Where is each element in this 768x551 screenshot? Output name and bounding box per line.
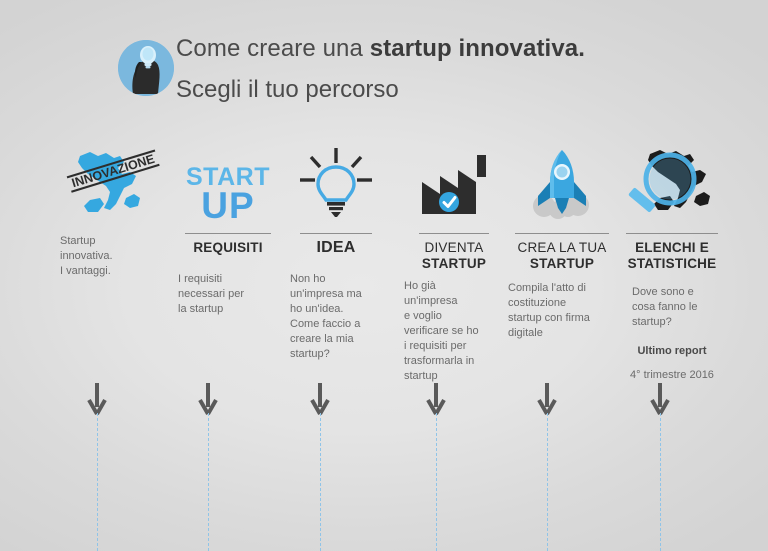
- column-body-text: Dove sono e cosa fanno le startup?: [616, 285, 728, 330]
- page-title-emphasis: startup innovativa.: [370, 35, 585, 62]
- column-title-bold: STARTUP: [508, 256, 616, 272]
- column-title-regular: DIVENTA: [404, 240, 504, 256]
- head-lightbulb-icon: [118, 40, 174, 96]
- rocket-icon: [508, 146, 616, 224]
- column-body-text: Startup innovativa. I vantaggi.: [60, 234, 170, 279]
- dashed-line: [436, 413, 437, 551]
- column-body-text: Compila l'atto di costituzione startup c…: [508, 281, 616, 341]
- column-divider: [300, 233, 372, 234]
- magnifier-italy-icon: [616, 146, 728, 224]
- column-title-bold: IDEA: [316, 239, 355, 256]
- column-body-text: Ho già un'impresa e voglio verificare se…: [404, 279, 504, 384]
- column-diventa-startup[interactable]: DIVENTA STARTUP Ho già un'impresa e vogl…: [404, 146, 504, 384]
- dashed-line: [660, 413, 661, 551]
- column-innovazione[interactable]: INNOVAZIONE Startup innovativa. I vantag…: [60, 146, 170, 279]
- dashed-line: [208, 413, 209, 551]
- arrow-down-icon: [87, 383, 107, 415]
- startup-word-up: UP: [186, 187, 270, 224]
- column-title: CREA LA TUA STARTUP: [508, 240, 616, 271]
- page-title-prefix: Come creare una: [176, 35, 370, 62]
- factory-check-icon: [404, 146, 504, 224]
- column-title-bold: ELENCHI E STATISTICHE: [628, 240, 717, 271]
- column-divider: [185, 233, 271, 234]
- column-body-text: I requisiti necessari per la startup: [178, 272, 278, 317]
- page-title-line1: Come creare una startup innovativa.: [176, 34, 736, 64]
- column-title: REQUISITI: [178, 240, 278, 256]
- page-header: Come creare una startup innovativa. Sceg…: [0, 34, 768, 126]
- arrow-down-icon: [537, 383, 557, 415]
- italy-map-innovazione-stamp-icon: INNOVAZIONE: [60, 146, 170, 224]
- header-text-block: Come creare una startup innovativa. Sceg…: [176, 34, 736, 105]
- arrow-down-icon: [310, 383, 330, 415]
- column-title-bold: REQUISITI: [193, 240, 262, 255]
- column-elenchi-statistiche[interactable]: ELENCHI E STATISTICHE Dove sono e cosa f…: [616, 146, 728, 383]
- arrow-down-icon: [198, 383, 218, 415]
- column-title: ELENCHI E STATISTICHE: [616, 240, 728, 271]
- column-requisiti[interactable]: START UP REQUISITI I requisiti necessari…: [178, 146, 278, 317]
- column-title: DIVENTA STARTUP: [404, 240, 504, 271]
- dashed-line: [320, 413, 321, 551]
- column-title: IDEA: [290, 240, 382, 256]
- path-columns: INNOVAZIONE Startup innovativa. I vantag…: [0, 146, 768, 386]
- column-report-label: Ultimo report: [616, 344, 728, 359]
- infographic-canvas: Come creare una startup innovativa. Sceg…: [0, 0, 768, 551]
- arrow-down-icon: [650, 383, 670, 415]
- dashed-line: [547, 413, 548, 551]
- arrow-down-icon: [426, 383, 446, 415]
- dashed-line: [97, 413, 98, 551]
- column-divider: [626, 233, 718, 234]
- column-divider: [515, 233, 609, 234]
- column-title-regular: CREA LA TUA: [508, 240, 616, 256]
- page-subtitle: Scegli il tuo percorso: [176, 75, 736, 105]
- lightbulb-icon: [290, 146, 382, 224]
- column-divider: [419, 233, 489, 234]
- column-crea-startup[interactable]: CREA LA TUA STARTUP Compila l'atto di co…: [508, 146, 616, 341]
- column-body-text: Non ho un'impresa ma ho un'idea. Come fa…: [290, 272, 382, 362]
- column-title-bold: STARTUP: [404, 256, 504, 272]
- column-report-period: 4° trimestre 2016: [616, 368, 728, 383]
- column-idea[interactable]: IDEA Non ho un'impresa ma ho un'idea. Co…: [290, 146, 382, 362]
- startup-wordmark-icon: START UP: [178, 146, 278, 224]
